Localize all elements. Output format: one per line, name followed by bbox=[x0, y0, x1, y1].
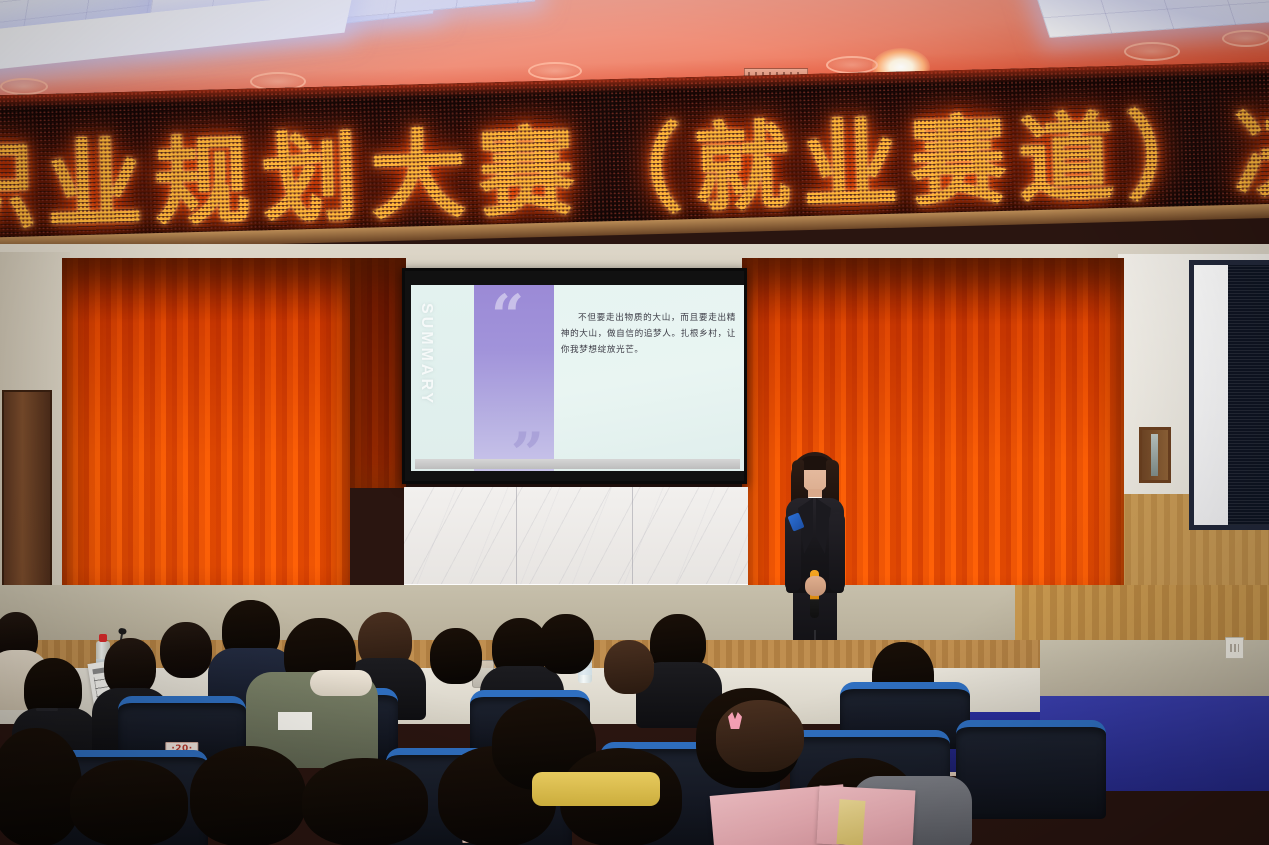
slide-bottom-bar bbox=[415, 459, 740, 469]
presenter-hands bbox=[805, 576, 826, 596]
audience-head bbox=[0, 728, 82, 845]
side-display-white-area bbox=[1194, 265, 1228, 525]
audience-head bbox=[160, 622, 212, 678]
recessed-ring-light-icon bbox=[0, 78, 48, 95]
slide-summary-label: SUMMARY bbox=[417, 303, 435, 406]
recessed-ring-light-icon bbox=[826, 56, 878, 74]
jacket-tag-label bbox=[278, 712, 312, 730]
stage-curtain-behind-screen bbox=[350, 258, 406, 488]
audience-head bbox=[70, 760, 188, 845]
auditorium-seat[interactable] bbox=[956, 720, 1106, 819]
wall-niche-glass bbox=[1151, 434, 1158, 476]
wall-niche-window bbox=[1139, 427, 1171, 483]
projection-screen: SUMMARY ” “ 不但要走出物质的大山，而且要走出精神的大山，做自信的追梦… bbox=[402, 268, 747, 484]
slide-left-strip: SUMMARY bbox=[411, 285, 474, 471]
pink-folder[interactable] bbox=[817, 786, 916, 845]
auditorium-scene: 职业规划大赛（就业赛道）决 SUMMARY ” “ 不但要走出物质的大山，而且要… bbox=[0, 0, 1269, 845]
slide-body-text: 不但要走出物质的大山，而且要走出精神的大山，做自信的追梦人。扎根乡村，让你我梦想… bbox=[561, 311, 736, 359]
audience-head bbox=[430, 628, 482, 684]
recessed-ring-light-icon bbox=[1222, 30, 1269, 47]
audience-head bbox=[716, 700, 804, 772]
eyeglasses-icon bbox=[36, 708, 58, 711]
audience-head bbox=[604, 640, 654, 694]
yellow-scarf bbox=[532, 772, 660, 806]
recessed-ring-light-icon bbox=[528, 62, 582, 80]
marble-seam bbox=[632, 487, 633, 597]
open-quote-icon: “ bbox=[491, 287, 524, 345]
audience-head bbox=[538, 614, 594, 674]
presenter-arm-right bbox=[829, 512, 845, 592]
audience-area: ·20· ·21· ·21· ·22· bbox=[0, 600, 1269, 845]
audience-head bbox=[302, 758, 428, 845]
recessed-ring-light-icon bbox=[1124, 42, 1180, 61]
yellow-folder[interactable] bbox=[836, 799, 865, 845]
marble-wall-panel bbox=[404, 487, 748, 597]
side-display-monitor bbox=[1189, 260, 1269, 530]
stage-curtain-left bbox=[62, 258, 350, 620]
presentation-slide: SUMMARY ” “ 不但要走出物质的大山，而且要走出精神的大山，做自信的追梦… bbox=[411, 285, 744, 471]
side-display-blue-area bbox=[1228, 265, 1269, 525]
marble-seam bbox=[516, 487, 517, 597]
fur-collar bbox=[310, 670, 372, 696]
audience-head bbox=[190, 746, 306, 845]
